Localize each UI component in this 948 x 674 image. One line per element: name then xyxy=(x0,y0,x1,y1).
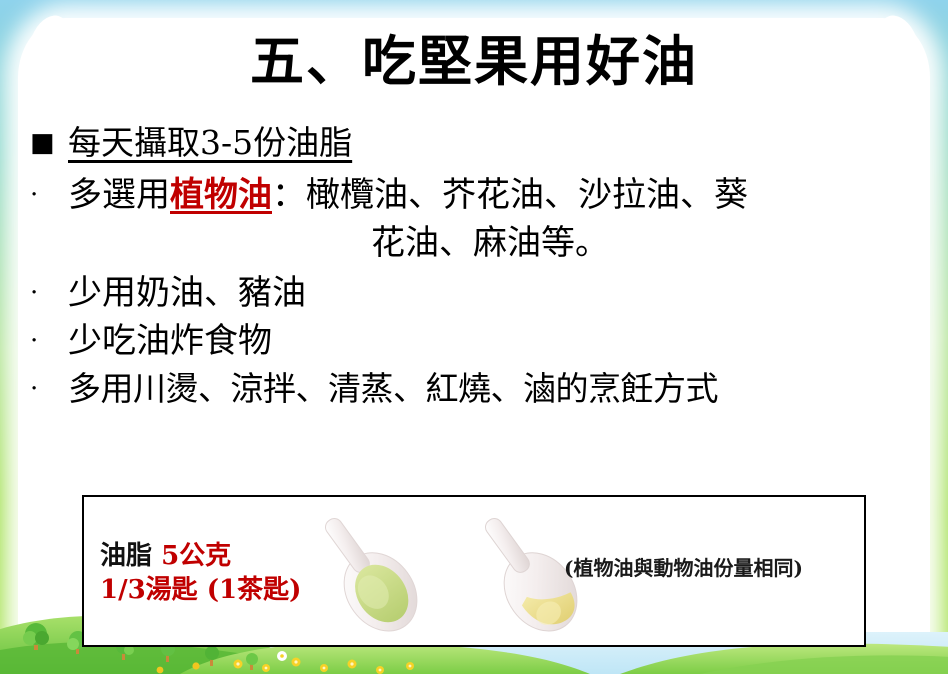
list-item: · 少用奶油、豬油 xyxy=(30,270,920,316)
square-bullet-icon: ■ xyxy=(30,120,68,166)
text-after-highlight: ：橄欖油、芥花油、沙拉油、葵 xyxy=(272,175,748,215)
spoon-with-vegetable-oil xyxy=(302,501,432,643)
caption-line-1: 油脂 5公克 xyxy=(100,539,301,573)
caption-label: 油脂 xyxy=(100,541,161,571)
bullet-text-daily-intake: 每天攝取3-5份油脂 xyxy=(68,120,920,166)
bullet-text-cooking-methods: 多用川燙、涼拌、清蒸、紅燒、滷的烹飪方式 xyxy=(68,366,920,412)
list-item: · 少吃油炸食物 xyxy=(30,318,920,364)
caption-line-2: 1/3湯匙 (1茶匙) xyxy=(100,573,301,607)
photo-caption: 油脂 5公克 1/3湯匙 (1茶匙) xyxy=(100,539,301,607)
page-title: 五、吃堅果用好油 xyxy=(0,30,948,92)
list-item: · 多用川燙、涼拌、清蒸、紅燒、滷的烹飪方式 xyxy=(30,366,920,412)
list-item: ■ 每天攝取3-5份油脂 xyxy=(30,120,920,166)
text-before-highlight: 多選用 xyxy=(68,175,170,215)
dot-bullet-icon: · xyxy=(30,318,68,364)
bullet-text-reduce-butter-lard: 少用奶油、豬油 xyxy=(68,270,920,316)
bullet-text-vegetable-oil: 多選用植物油：橄欖油、芥花油、沙拉油、葵 xyxy=(68,172,920,218)
slide: 五、吃堅果用好油 ■ 每天攝取3-5份油脂 · 多選用植物油：橄欖油、芥花油、沙… xyxy=(0,0,948,674)
bullet-list: ■ 每天攝取3-5份油脂 · 多選用植物油：橄欖油、芥花油、沙拉油、葵 花油、麻… xyxy=(30,120,920,412)
photo-box: 油脂 5公克 1/3湯匙 (1茶匙) xyxy=(82,495,866,647)
dot-bullet-icon: · xyxy=(30,270,68,316)
dot-bullet-icon: · xyxy=(30,366,68,412)
bullet-text-vegetable-oil-continuation: 花油、麻油等。 xyxy=(180,220,800,266)
dot-bullet-icon: · xyxy=(30,172,68,218)
highlight-vegetable-oil: 植物油 xyxy=(170,175,272,215)
bullet-text-reduce-fried-food: 少吃油炸食物 xyxy=(68,318,920,364)
caption-amount: 5公克 xyxy=(161,541,231,571)
list-item: · 多選用植物油：橄欖油、芥花油、沙拉油、葵 xyxy=(30,172,920,218)
photo-note: (植物油與動物油份量相同) xyxy=(564,552,803,581)
